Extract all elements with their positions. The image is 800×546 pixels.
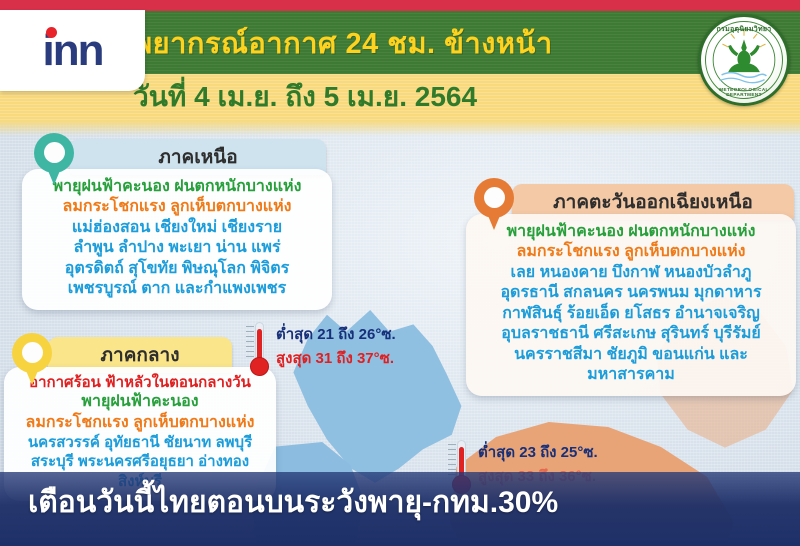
map-pin-northeast-icon: [474, 178, 514, 230]
temperature-north: ต่ำสุด 21 ถึง 26°ซ. สูงสุด 31 ถึง 37°ซ.: [276, 322, 396, 370]
temp-min-north: ต่ำสุด 21 ถึง 26°ซ.: [276, 322, 396, 346]
seal-top-label: กรมอุตุนิยมวิทยา: [701, 24, 787, 35]
province-line: มหาสารคาม: [476, 365, 786, 385]
thermometer-north-icon: [246, 322, 272, 378]
logo-mark: inn: [43, 29, 103, 73]
header-fade: [0, 120, 800, 136]
region-forecast-northeast: พายุฝนฟ้าคะนอง ฝนตกหนักบางแห่ง ลมกระโชกแ…: [466, 214, 796, 396]
province-line: เพชรบูรณ์ ตาก และกำแพงเพชร: [32, 279, 322, 299]
province-line: อุบลราชธานี ศรีสะเกษ สุรินทร์ บุรีรัมย์: [476, 324, 786, 344]
province-line: กาฬสินธุ์ ร้อยเอ็ด ยโสธร อำนาจเจริญ: [476, 304, 786, 324]
forecast-line: พายุฝนฟ้าคะนอง ฝนตกหนักบางแห่ง: [32, 177, 322, 197]
logo-dot-icon: [46, 27, 57, 38]
bottom-headline-banner: เตือนวันนี้ไทยตอนบนระวังพายุ-กทม.30%: [0, 472, 800, 546]
province-line: แม่ฮ่องสอน เชียงใหม่ เชียงราย: [32, 218, 322, 238]
province-line: อุดรธานี สกลนคร นครพนม มุกดาหาร: [476, 283, 786, 303]
province-line: สระบุรี พระนครศรีอยุธยา อ่างทอง: [14, 452, 266, 471]
forecast-line: ลมกระโชกแรง ลูกเห็บตกบางแห่ง: [32, 197, 322, 217]
tmd-seal: กรมอุตุนิยมวิทยา METEOROLOGICAL DEPARTME…: [698, 14, 790, 106]
forecast-line: ลมกระโชกแรง ลูกเห็บตกบางแห่ง: [14, 413, 266, 433]
temp-min-northeast: ต่ำสุด 23 ถึง 25°ซ.: [478, 440, 598, 464]
province-line: อุตรดิตถ์ สุโขทัย พิษณุโลก พิจิตร: [32, 259, 322, 279]
forecast-line: พายุฝนฟ้าคะนอง ฝนตกหนักบางแห่ง: [476, 222, 786, 242]
temp-max-north: สูงสุด 31 ถึง 37°ซ.: [276, 346, 396, 370]
forecast-line: พายุฝนฟ้าคะนอง: [14, 392, 266, 412]
region-forecast-north: พายุฝนฟ้าคะนอง ฝนตกหนักบางแห่ง ลมกระโชกแ…: [22, 169, 332, 310]
province-line: ลำพูน ลำปาง พะเยา น่าน แพร่: [32, 238, 322, 258]
province-line: นครสวรรค์ อุทัยธานี ชัยนาท ลพบุรี: [14, 433, 266, 452]
forecast-date-range: วันที่ 4 เม.ย. ถึง 5 เม.ย. 2564: [133, 75, 477, 119]
map-pin-north-icon: [34, 133, 74, 185]
province-line: นครราชสีมา ชัยภูมิ ขอนแก่น และ: [476, 345, 786, 365]
province-line: เลย หนองคาย บึงกาฬ หนองบัวลำภู: [476, 263, 786, 283]
page-title: พยากรณ์อากาศ 24 ชม. ข้างหน้า: [133, 20, 553, 66]
map-pin-central-icon: [12, 333, 52, 385]
seal-bottom-label: METEOROLOGICAL DEPARTMENT: [701, 87, 787, 97]
infographic-root: พยากรณ์อากาศ 24 ชม. ข้างหน้า วันที่ 4 เม…: [0, 0, 800, 546]
forecast-line: ลมกระโชกแรง ลูกเห็บตกบางแห่ง: [476, 242, 786, 262]
headline-text: เตือนวันนี้ไทยตอนบนระวังพายุ-กทม.30%: [28, 479, 558, 526]
inn-logo: inn: [0, 10, 145, 91]
